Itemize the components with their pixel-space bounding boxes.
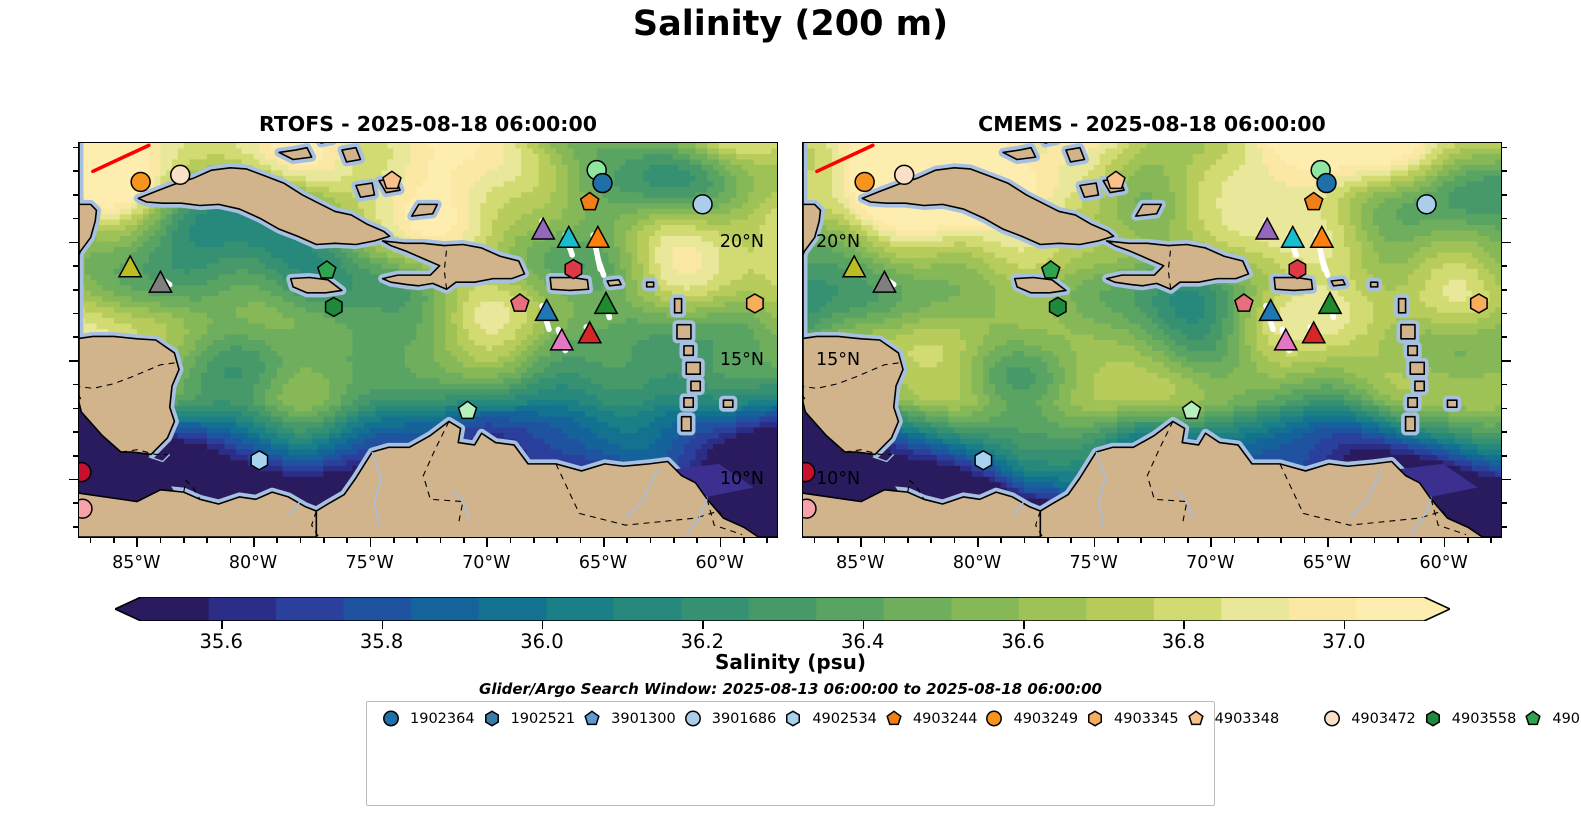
x-tick-minor [183,538,185,543]
legend-label: 4903249 [1013,711,1078,727]
x-tick-minor [1024,538,1026,543]
legend-marker-4903472 [1315,708,1349,729]
legend-marker-3901686 [676,708,710,729]
map-marker-4903472[interactable] [171,165,190,184]
legend-title: Glider/Argo Search Window: 2025-08-13 06… [0,680,1581,698]
map-marker-6999986[interactable] [565,260,581,279]
legend-label: 4902534 [812,711,877,727]
legend-marker-4903561 [1516,708,1550,729]
colorbar-tick [702,621,704,629]
x-tick-minor [1304,538,1306,543]
x-tick-minor [1257,538,1259,543]
legend-item-4902534[interactable]: 4902534 [776,707,877,730]
x-tick-minor [1280,538,1282,543]
y-tick-minor [73,170,78,172]
salinity-field-cmems [803,143,1501,537]
legend-label: 3901686 [712,711,777,727]
y-tick [69,479,78,481]
colorbar-gradient [115,597,1450,621]
legend-label: 4903348 [1215,711,1280,727]
x-tick-minor [346,538,348,543]
y-tick-minor [73,289,78,291]
x-tick-minor [907,538,909,543]
x-tick-minor [510,538,512,543]
map-marker-4903561[interactable] [1527,711,1541,724]
colorbar: 35.635.836.036.236.436.636.837.0 [115,597,1450,621]
legend-label: 4903244 [913,711,978,727]
map-panel-cmems[interactable]: CMEMS - 2025-08-18 06:00:00 85°W80°W75°W… [802,142,1502,538]
map-marker-7901042[interactable] [803,499,816,518]
x-tick-minor [954,538,956,543]
y-tick-minor [1502,384,1507,386]
legend-item-4903472[interactable]: 4903472 [1315,707,1416,730]
legend-item-1902364[interactable]: 1902364 [374,707,475,730]
colorbar-tick [382,621,384,629]
colorbar-tick [1344,621,1346,629]
map-marker-4903558[interactable] [1427,711,1439,725]
y-tick-label: 15°N [816,350,860,370]
x-tick-minor [1420,538,1422,543]
y-tick-minor [73,194,78,196]
legend-label: 4903472 [1351,711,1416,727]
x-tick-minor [1467,538,1469,543]
legend-item-4903561[interactable]: 4903561 [1516,707,1581,730]
legend-item-4903348[interactable]: 4903348 [1179,707,1280,730]
map-marker-3901686[interactable] [686,711,700,725]
legend-item-3901300[interactable]: 3901300 [575,707,676,730]
y-tick-minor [73,526,78,528]
x-tick-minor [1397,538,1399,543]
y-tick-minor [73,147,78,149]
map-marker-6999986[interactable] [1289,260,1305,279]
map-marker-1902364[interactable] [384,711,398,725]
colorbar-label: Salinity (psu) [0,650,1581,674]
x-tick-minor [930,538,932,543]
x-tick-minor [276,538,278,543]
legend-box[interactable]: 1902364190252139013003901686490253449032… [366,701,1215,806]
x-tick-minor [1374,538,1376,543]
legend-marker-4903348 [1179,708,1213,729]
map-marker-1902521[interactable] [485,711,497,725]
y-tick-minor [1502,194,1507,196]
y-tick-label: 15°N [720,350,764,370]
x-tick-label: 70°W [462,553,510,573]
x-tick-label: 80°W [229,553,277,573]
x-tick-minor [1140,538,1142,543]
legend-marker-1902364 [374,708,408,729]
panel-title-cmems: CMEMS - 2025-08-18 06:00:00 [802,112,1502,136]
legend-item-4903249[interactable]: 4903249 [977,707,1078,730]
x-tick-minor [113,538,115,543]
map-marker-6903111[interactable] [79,463,91,482]
map-marker-6903111[interactable] [803,463,815,482]
y-tick [1502,360,1511,362]
legend-marker-4903244 [877,708,911,729]
x-tick-label: 85°W [836,553,884,573]
x-tick-minor [1047,538,1049,543]
legend-label: 1902521 [511,711,576,727]
legend-marker-4903558 [1416,708,1450,729]
x-tick-minor [1000,538,1002,543]
page-title: Salinity (200 m) [0,4,1581,44]
map-frame-cmems[interactable] [802,142,1502,538]
legend-label: 3901300 [611,711,676,727]
x-tick-minor [650,538,652,543]
legend-marker-1902521 [475,708,509,729]
x-tick [1327,538,1329,547]
x-tick-minor [1070,538,1072,543]
x-tick-minor [393,538,395,543]
legend-item-4903558[interactable]: 4903558 [1416,707,1517,730]
x-tick [603,538,605,547]
x-tick [486,538,488,547]
x-tick-label: 70°W [1186,553,1234,573]
legend-grid: 1902364190252139013003901686490253449032… [374,707,1208,730]
y-tick-minor [1502,218,1507,220]
y-tick-minor [73,336,78,338]
legend-item-1902521[interactable]: 1902521 [475,707,576,730]
x-tick-minor [626,538,628,543]
colorbar-tick [542,621,544,629]
colorbar-tick [1183,621,1185,629]
x-tick-minor [1117,538,1119,543]
x-tick [136,538,138,547]
y-tick-minor [1502,455,1507,457]
legend-label: 4903558 [1452,711,1517,727]
y-tick-minor [1502,408,1507,410]
x-tick-minor [1164,538,1166,543]
map-marker-1902364[interactable] [1317,174,1336,193]
map-marker-4903249[interactable] [131,172,150,191]
y-tick [1502,479,1511,481]
colorbar-tick [1023,621,1025,629]
map-marker-3901686[interactable] [693,195,712,214]
x-tick-label: 60°W [695,553,743,573]
y-tick-minor [1502,313,1507,315]
map-marker-1902364[interactable] [593,174,612,193]
x-tick-label: 85°W [112,553,160,573]
x-tick-label: 75°W [1069,553,1117,573]
map-marker-4903345[interactable] [747,294,763,313]
x-tick-minor [1187,538,1189,543]
y-tick-minor [1502,431,1507,433]
legend-marker-4903345 [1078,708,1112,729]
panel-title-rtofs: RTOFS - 2025-08-18 06:00:00 [78,112,778,136]
legend-label: 4903345 [1114,711,1179,727]
y-tick-label: 20°N [816,232,860,252]
x-tick-minor [1490,538,1492,543]
x-tick [1210,538,1212,547]
x-tick [1444,538,1446,547]
y-tick [1502,242,1511,244]
map-marker-4903348[interactable] [1189,711,1203,724]
y-tick-minor [73,408,78,410]
y-tick-minor [73,313,78,315]
x-tick-label: 80°W [953,553,1001,573]
y-tick-minor [1502,289,1507,291]
legend-marker-3901300 [575,708,609,729]
y-tick-minor [73,265,78,267]
x-tick-minor [580,538,582,543]
salinity-field-rtofs [79,143,777,537]
x-tick [253,538,255,547]
x-tick [860,538,862,547]
x-tick-minor [884,538,886,543]
colorbar-tick [863,621,865,629]
x-tick-minor [160,538,162,543]
y-tick-minor [73,431,78,433]
map-marker-4903558[interactable] [1050,298,1066,317]
x-tick-minor [416,538,418,543]
x-tick-minor [463,538,465,543]
x-tick [977,538,979,547]
x-tick-minor [1350,538,1352,543]
map-marker-4903472[interactable] [1325,711,1339,725]
map-marker-4902534[interactable] [975,451,991,470]
y-tick-minor [73,218,78,220]
x-tick-minor [673,538,675,543]
y-tick-minor [73,455,78,457]
x-tick-label: 65°W [579,553,627,573]
legend-item-3901686[interactable]: 3901686 [676,707,777,730]
y-tick [69,360,78,362]
y-tick-minor [1502,147,1507,149]
x-tick-minor [556,538,558,543]
y-tick-minor [1502,502,1507,504]
map-marker-3901686[interactable] [1417,195,1436,214]
x-tick [1094,538,1096,547]
map-frame-rtofs[interactable] [78,142,778,538]
legend-marker-4903249 [977,708,1011,729]
x-tick-minor [533,538,535,543]
map-marker-4903244[interactable] [887,711,901,724]
legend-marker-4902534 [776,708,810,729]
map-panel-rtofs[interactable]: RTOFS - 2025-08-18 06:00:00 85°W80°W75°W… [78,142,778,538]
map-marker-4903558[interactable] [326,298,342,317]
colorbar-tick [221,621,223,629]
x-tick-minor [743,538,745,543]
y-tick-minor [1502,526,1507,528]
y-tick-label: 10°N [720,469,764,489]
y-tick-label: 10°N [816,469,860,489]
x-tick-minor [1234,538,1236,543]
map-marker-4903472[interactable] [895,165,914,184]
x-tick-minor [206,538,208,543]
y-tick-label: 20°N [720,232,764,252]
map-marker-4902534[interactable] [787,711,799,725]
map-marker-7901042[interactable] [79,499,92,518]
y-tick-minor [1502,170,1507,172]
map-marker-4903345[interactable] [1089,711,1101,725]
y-tick [69,242,78,244]
y-tick-minor [73,502,78,504]
x-tick [720,538,722,547]
legend-item-4903244[interactable]: 4903244 [877,707,978,730]
x-tick [370,538,372,547]
map-marker-4903249[interactable] [987,711,1001,725]
map-marker-4903249[interactable] [855,172,874,191]
y-tick-minor [1502,265,1507,267]
y-tick-minor [1502,336,1507,338]
x-tick-minor [766,538,768,543]
legend-label: 4903561 [1552,711,1581,727]
x-tick-minor [300,538,302,543]
y-tick-minor [73,384,78,386]
x-tick-label: 60°W [1419,553,1467,573]
map-marker-4902534[interactable] [251,451,267,470]
x-tick-minor [814,538,816,543]
x-tick-minor [440,538,442,543]
map-marker-3901300[interactable] [585,711,599,724]
legend-item-4903345[interactable]: 4903345 [1078,707,1179,730]
x-tick-label: 65°W [1303,553,1351,573]
x-tick-minor [323,538,325,543]
x-tick-label: 75°W [345,553,393,573]
x-tick-minor [90,538,92,543]
x-tick-minor [837,538,839,543]
x-tick-minor [230,538,232,543]
x-tick-minor [696,538,698,543]
legend-label: 1902364 [410,711,475,727]
map-marker-4903345[interactable] [1471,294,1487,313]
